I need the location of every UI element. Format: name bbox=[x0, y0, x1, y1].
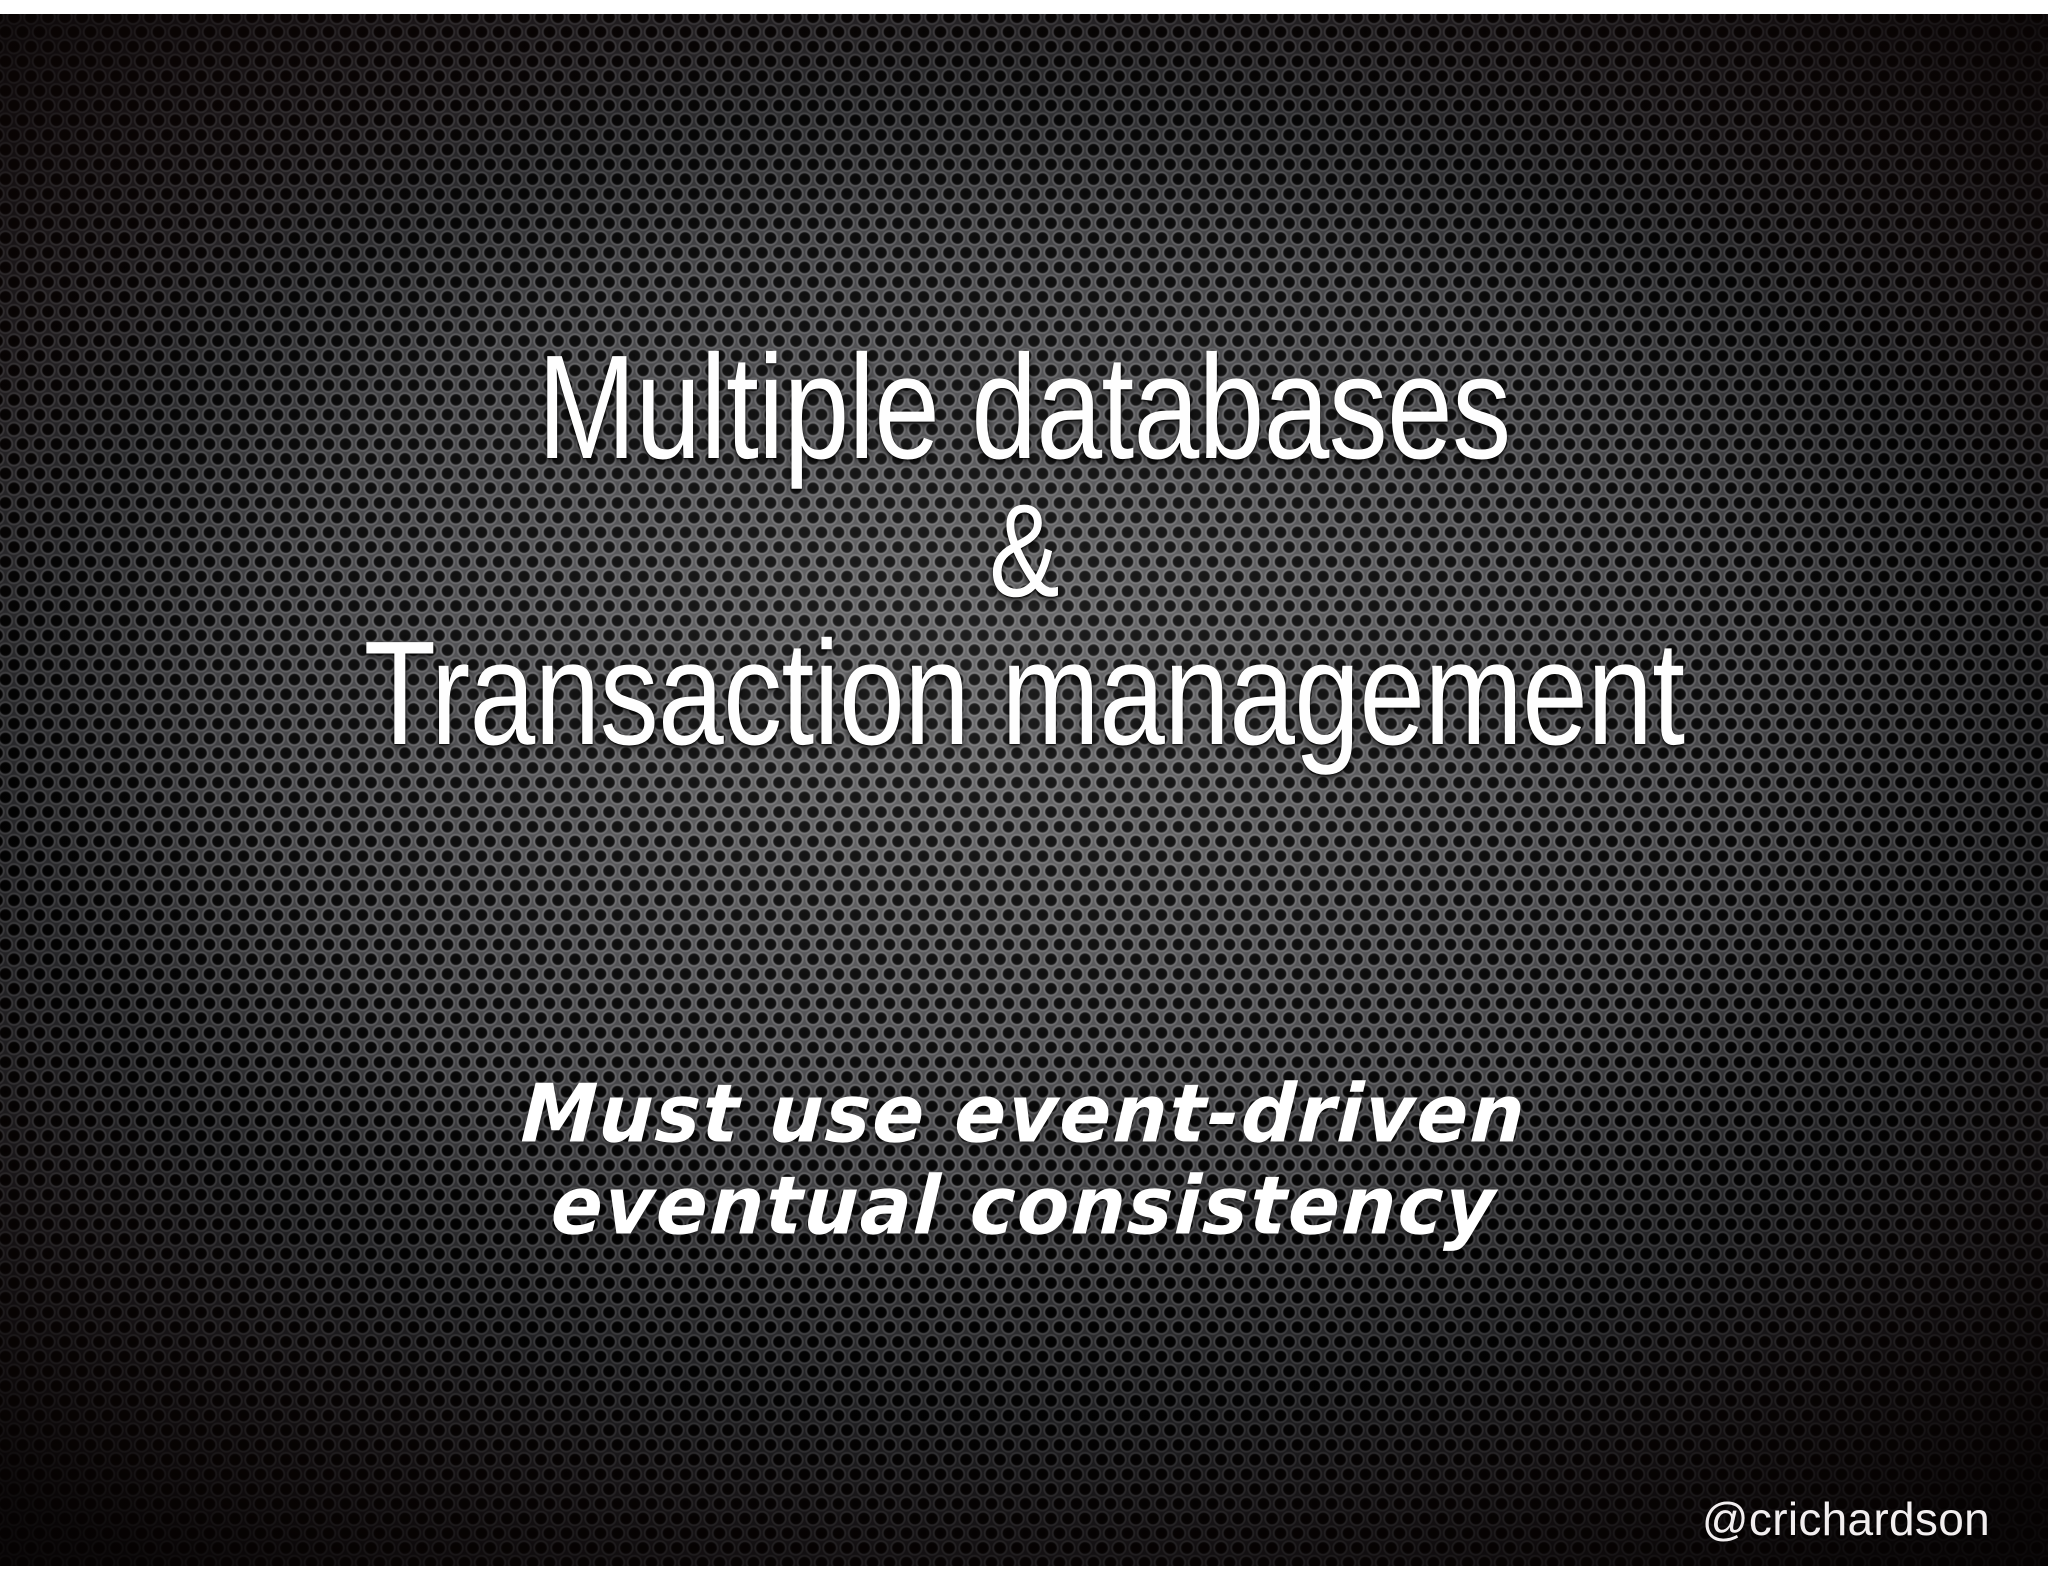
slide-content: Multiple databases & Transaction managem… bbox=[0, 0, 2048, 1582]
handwritten-line-2: eventual consistency bbox=[0, 1157, 2048, 1255]
title-line-1: Multiple databases bbox=[205, 340, 1843, 476]
handwritten-subtitle: Must use event-driven eventual consisten… bbox=[0, 1068, 2048, 1252]
title-ampersand: & bbox=[205, 476, 1843, 626]
title-line-3: Transaction management bbox=[205, 626, 1843, 762]
author-handle: @crichardson bbox=[1702, 1492, 1990, 1546]
handwritten-line-1: Must use event-driven bbox=[0, 1065, 2048, 1163]
slide-canvas: Multiple databases & Transaction managem… bbox=[0, 0, 2048, 1582]
slide-title: Multiple databases & Transaction managem… bbox=[0, 340, 2048, 762]
